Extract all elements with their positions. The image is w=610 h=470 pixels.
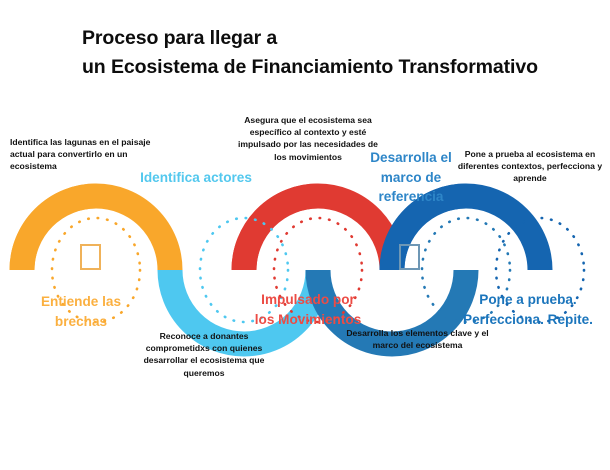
- heading-step-3: Impulsado por los Movimientos: [252, 290, 364, 329]
- arc-step-3-overlap: [244, 196, 318, 270]
- heading-step-5: Pone a prueba. Perfecciona. Repite.: [458, 290, 598, 329]
- caption-step-1: Identifica las lagunas en el paisaje act…: [10, 136, 160, 173]
- heading-step-1: Entiende las brechas: [22, 292, 140, 331]
- infographic-canvas: Proceso para llegar a un Ecosistema de F…: [0, 0, 610, 470]
- caption-step-4: Desarrolla los elementos clave y el marc…: [345, 327, 490, 351]
- arc-step-1-overlap: [22, 196, 96, 270]
- caption-step-2: Reconoce a donantes comprometidxs con qu…: [130, 330, 278, 379]
- caption-step-5: Pone a prueba al ecosistema en diferente…: [452, 148, 608, 185]
- serpentine-process-diagram: [0, 0, 610, 470]
- heading-step-2: Identifica actores: [140, 168, 252, 188]
- heading-step-4: Desarrolla el marco de referencia: [352, 148, 470, 207]
- square-outline-icon-step-1: [81, 245, 100, 269]
